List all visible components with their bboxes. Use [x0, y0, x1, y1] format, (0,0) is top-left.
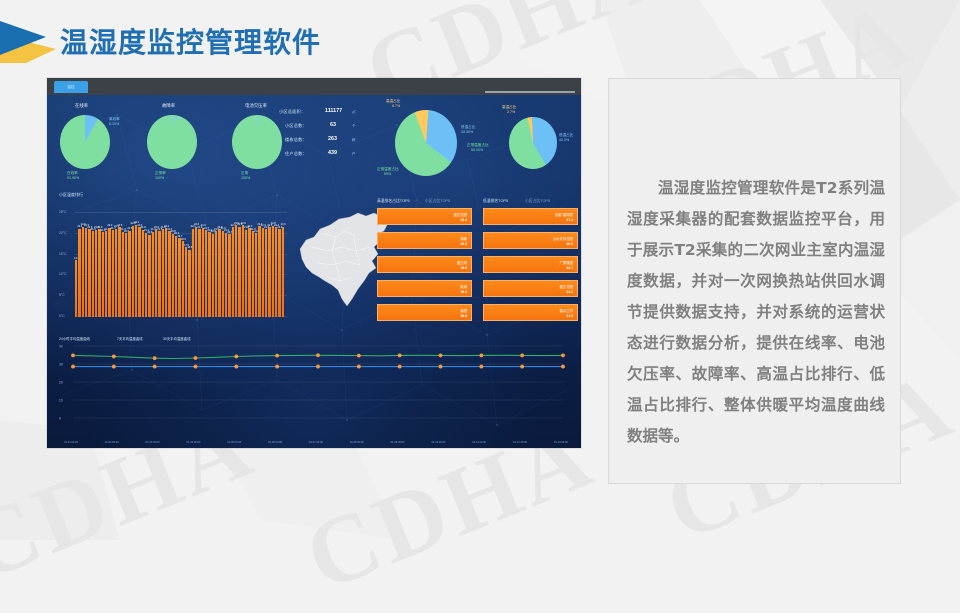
bar-chart-bar — [178, 238, 180, 317]
bar-chart-bar — [82, 227, 84, 317]
bar-chart-bar — [128, 231, 130, 317]
line-chart-x-tick: 01-13 00:00 — [554, 441, 568, 444]
bar-chart-bar — [272, 226, 274, 317]
rank-row-name: 碧水兰亭 — [559, 308, 573, 313]
bar-chart-bar — [268, 227, 270, 317]
bar-chart-bar — [258, 226, 260, 317]
rank-row-name: 名都·康祥园 — [555, 212, 573, 217]
bar-chart-bar — [112, 230, 114, 317]
bar-chart-bar — [142, 230, 144, 317]
bar-chart-bar — [202, 228, 204, 317]
bar-chart-y-tick: 15°C — [59, 252, 67, 256]
line-chart-x-tick: 01-11 00:00 — [472, 441, 486, 444]
bar-chart-bar — [185, 247, 187, 317]
slide-header: 温湿度监控管理软件 — [0, 18, 321, 64]
bar-value-label: 18.9 — [181, 238, 186, 241]
line-chart-x-tick: 01-03 00:00 — [146, 441, 160, 444]
bar-chart-bar — [235, 225, 237, 317]
bar-chart-bar — [135, 225, 137, 317]
bar-chart-bar — [195, 227, 197, 317]
bar-chart-bar — [148, 235, 150, 317]
rank-row-name: 盛达苑 — [457, 260, 467, 265]
bar-chart-bar — [212, 234, 214, 317]
bar-chart-bar — [92, 231, 94, 317]
rank-row[interactable]: 盛达苑19.6 — [377, 256, 472, 273]
line-chart-svg: 403020100 — [59, 338, 569, 432]
bar-chart-bar — [98, 229, 100, 317]
line-chart-x-tick: 01-06 00:00 — [268, 441, 282, 444]
bar-chart-bar — [245, 230, 247, 317]
rank-row-name: 山水天际花园 — [553, 236, 573, 241]
bar-chart-bar — [265, 229, 267, 317]
line-chart-x-tick: 01-07 00:00 — [309, 441, 323, 444]
bar-chart-bar — [255, 233, 257, 317]
bar-chart-gridline — [75, 212, 287, 213]
rank-row-value: 18.8 — [460, 314, 467, 318]
bar-chart-bar — [172, 234, 174, 317]
bar-chart-bar — [115, 229, 117, 317]
bar-chart-bar — [158, 231, 160, 317]
bar-chart-bar — [238, 227, 240, 317]
bar-chart-bar — [228, 234, 230, 317]
bar-chart-bar — [188, 250, 190, 317]
bar-chart-bar — [282, 227, 284, 317]
bar-chart-bar — [262, 228, 264, 317]
rank-row-value: 27.4 — [566, 218, 573, 222]
rank-row[interactable]: 山水天际花园20.5 — [483, 232, 578, 249]
bar-chart-bar — [218, 229, 220, 317]
bar-chart-bar — [252, 231, 254, 317]
bar-chart-bar — [198, 229, 200, 317]
line-chart-x-tick: 01-04 00:00 — [187, 441, 201, 444]
bar-chart-bar — [215, 231, 217, 317]
bar-chart-bar — [138, 227, 140, 317]
bar-chart-bar — [88, 229, 90, 317]
rank-row-name: 广厦雅园 — [559, 260, 573, 265]
arrow-logo-icon — [0, 19, 56, 63]
line-chart-x-tick: 01-10 00:00 — [432, 441, 446, 444]
dashboard-body: 在线率 离线率 8.10% 在线率 91.90% 故障率 故障率 0% 正常率 … — [47, 95, 581, 448]
svg-text:30: 30 — [59, 362, 63, 366]
rank-row[interactable]: 名都·康祥园27.4 — [483, 208, 578, 225]
rank-row[interactable]: 广厦雅园24.7 — [483, 256, 578, 273]
line-chart-plot: 403020100 — [59, 338, 569, 437]
bar-chart-bar — [102, 232, 104, 317]
rank-row-value: 33.4 — [460, 218, 467, 222]
page-title: 温湿度监控管理软件 — [60, 21, 321, 61]
bar-chart-bar — [122, 232, 124, 317]
line-chart-x-tick: 01-01 00:00 — [64, 441, 78, 444]
bar-value-label: 22.9 — [241, 222, 246, 225]
bar-chart-bar — [145, 233, 147, 317]
rank-row-name: 盛达花园 — [559, 284, 573, 289]
pie-slices — [509, 117, 557, 169]
bar-chart-bar — [162, 229, 164, 317]
rank-row[interactable]: 锦都23.3 — [377, 232, 472, 249]
svg-text:0: 0 — [59, 416, 61, 420]
svg-text:20: 20 — [59, 380, 63, 384]
bar-chart-bar — [182, 241, 184, 317]
bar-chart-bar — [278, 229, 280, 317]
rank-row-value: 24.7 — [566, 266, 573, 270]
dashboard-screenshot: 监控 — [47, 78, 581, 448]
bar-chart-bar — [222, 231, 224, 317]
pie-slices — [395, 110, 457, 176]
bar-chart-bar — [118, 227, 120, 317]
bar-chart-bar — [152, 232, 154, 317]
bar-chart-bar — [108, 228, 110, 317]
rank-row-value: 20.5 — [566, 242, 573, 246]
bar-chart-y-tick: 25°C — [59, 210, 67, 214]
bar-value-label: 22.6 — [281, 223, 286, 226]
bar-chart-bar — [248, 228, 250, 317]
bar-chart-bar — [208, 232, 210, 317]
rank-row[interactable]: 盛达花园23.2 — [483, 280, 578, 297]
bar-chart-bar — [175, 236, 177, 317]
line-chart-x-tick: 01-09 00:00 — [391, 441, 405, 444]
bar-chart-bar — [132, 226, 134, 317]
bar-chart-bar — [275, 227, 277, 317]
bar-chart-title: 小区温度排行 — [59, 192, 83, 198]
bar-chart-bar — [225, 233, 227, 317]
toolbar-divider — [485, 91, 575, 93]
line-chart-x-tick: 01-05 00:00 — [227, 441, 241, 444]
rank-row-name: 盛达花园 — [453, 212, 467, 217]
rank-row-name: 锦都 — [460, 236, 467, 241]
average-temperature-line-chart: 24小时平均温度曲线 7天平均温度曲线 30天平均温度曲线 403020100 … — [59, 338, 569, 438]
bar-chart-bar — [192, 229, 194, 317]
svg-text:40: 40 — [59, 344, 63, 348]
rank-row[interactable]: 馨园18.8 — [377, 304, 472, 321]
rank-row-name: 馨园 — [460, 308, 467, 313]
pie-slices — [60, 115, 110, 169]
bar-chart-y-tick: 10°C — [59, 272, 67, 276]
rank-row-value: 19.4 — [460, 290, 467, 294]
bar-chart-bar — [168, 231, 170, 317]
rank-row-value: 23.2 — [566, 290, 573, 294]
line-chart-x-tick: 01-08 00:00 — [350, 441, 364, 444]
bar-chart-bar — [155, 229, 157, 317]
rank-row-name: 新城 — [460, 284, 467, 289]
bar-chart-bar — [75, 260, 77, 317]
rank-row-value: 23.3 — [460, 242, 467, 246]
bar-chart-bar — [125, 233, 127, 317]
rank-row[interactable]: 新城19.4 — [377, 280, 472, 297]
browser-tab-label: 监控 — [67, 84, 74, 89]
description-text: 温湿度监控管理软件是T2系列温湿度采集器的配套数据监控平台，用于展示T2采集的二… — [627, 173, 885, 452]
temperature-bar-chart: 小区温度排行 25°C20°C15°C10°C5°C0°C 14.222.122… — [59, 200, 287, 325]
bar-chart-bar — [85, 228, 87, 317]
bar-chart-bar — [165, 228, 167, 317]
line-chart-x-tick: 01-12 00:00 — [513, 441, 527, 444]
bar-chart-bar — [242, 225, 244, 317]
bar-chart-bar — [78, 229, 80, 317]
bar-chart-y-tick: 0°C — [59, 314, 65, 318]
rank-row-value: 21.9 — [566, 314, 573, 318]
line-chart-x-tick: 01-02 00:00 — [105, 441, 119, 444]
bar-chart-bar — [232, 227, 234, 317]
bar-value-label: 22.5 — [117, 224, 122, 227]
rank-row[interactable]: 盛达花园33.4 — [377, 208, 472, 225]
bar-chart-bar — [205, 230, 207, 317]
bar-chart-bar — [105, 231, 107, 317]
bar-chart-y-tick: 5°C — [59, 293, 65, 297]
description-panel: 温湿度监控管理软件是T2系列温湿度采集器的配套数据监控平台，用于展示T2采集的二… — [608, 78, 901, 484]
svg-text:10: 10 — [59, 398, 63, 402]
rank-row-value: 19.6 — [460, 266, 467, 270]
browser-tab[interactable]: 监控 — [54, 81, 88, 93]
bar-chart-y-tick: 20°C — [59, 231, 67, 235]
bar-chart-bar — [95, 230, 97, 317]
rank-row[interactable]: 碧水兰亭21.9 — [483, 304, 578, 321]
